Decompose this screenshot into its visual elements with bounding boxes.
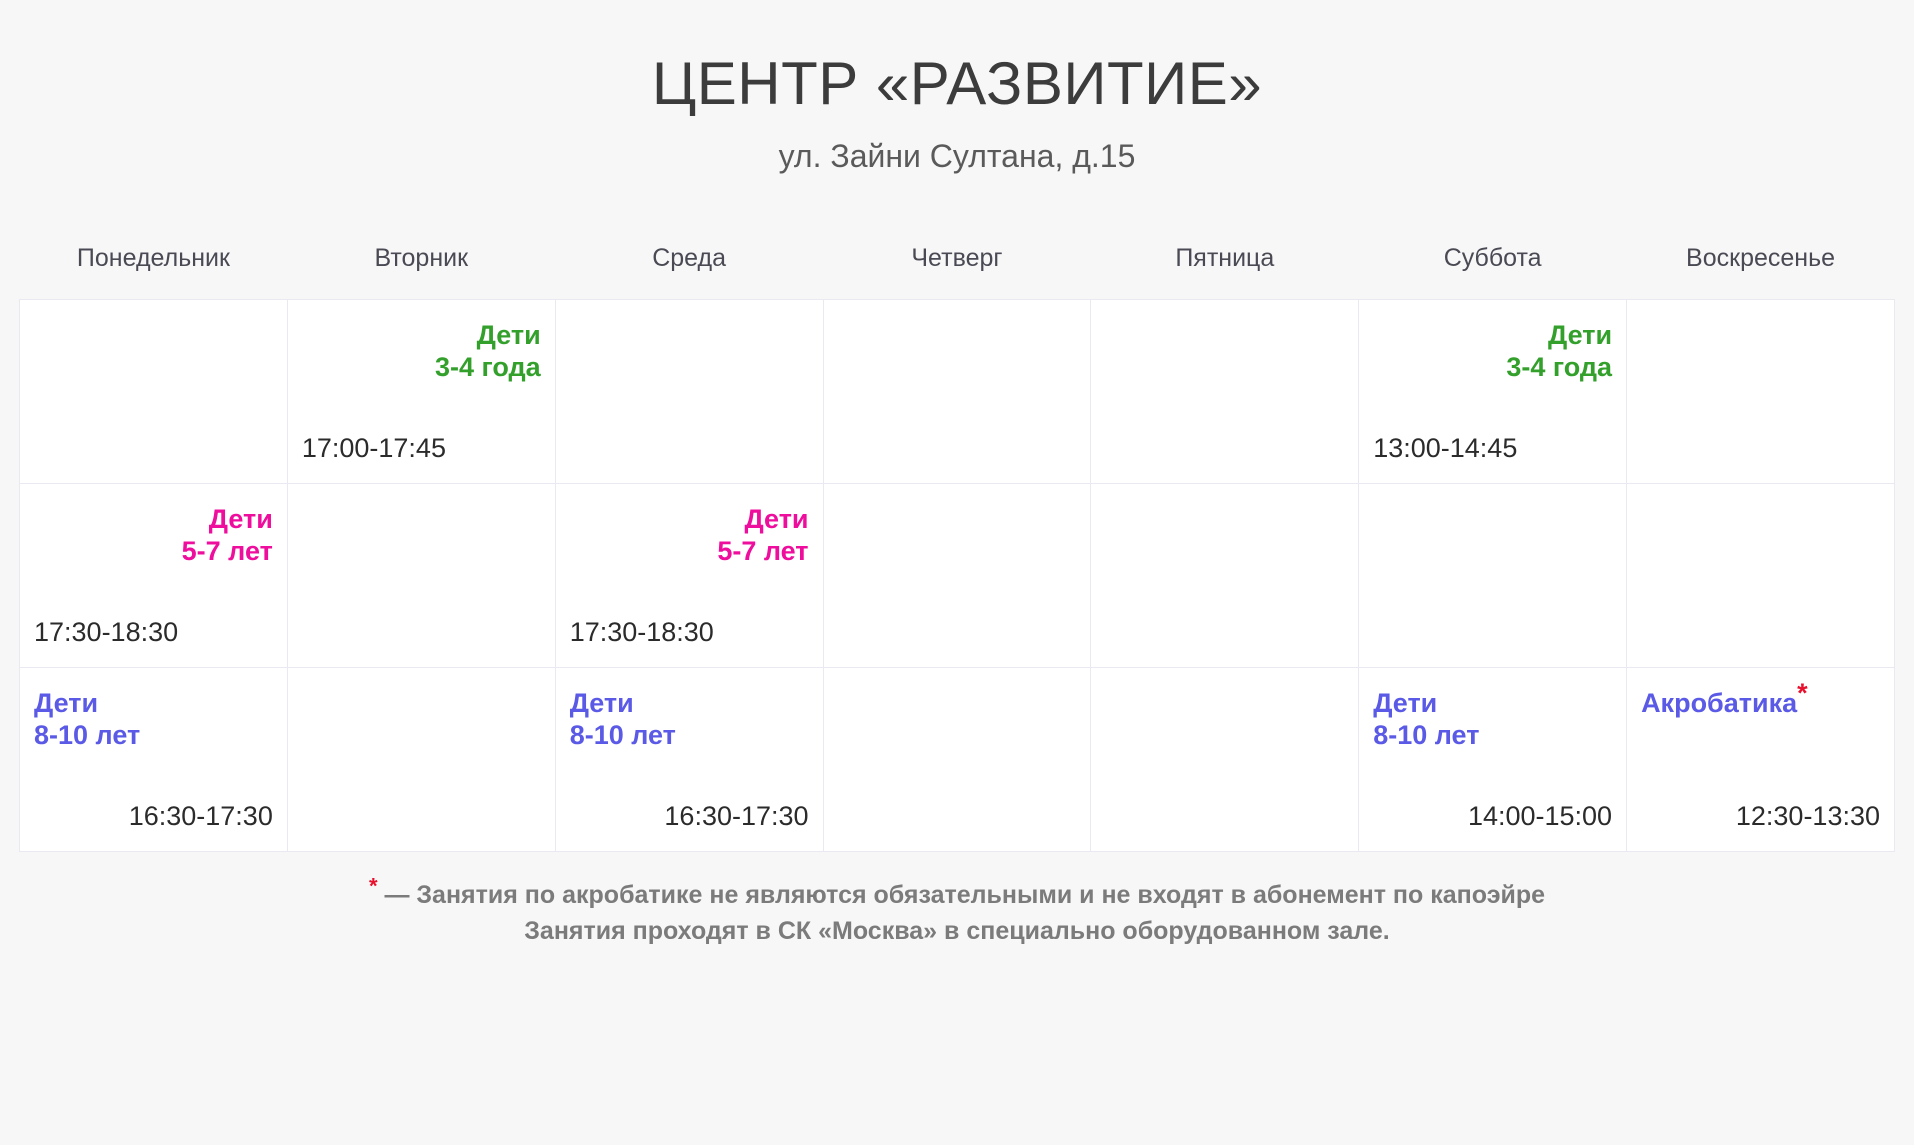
- schedule-cell[interactable]: Дети 3-4 года17:00-17:45: [287, 300, 555, 484]
- class-label-text: Акробатика: [1641, 688, 1797, 718]
- page-header: ЦЕНТР «РАЗВИТИЕ» ул. Зайни Султана, д.15: [0, 0, 1914, 174]
- schedule-cell[interactable]: Дети 5-7 лет17:30-18:30: [20, 484, 288, 668]
- schedule-row: Дети 8-10 лет16:30-17:30Дети 8-10 лет16:…: [20, 668, 1895, 852]
- day-header-5: Пятница: [1091, 244, 1359, 300]
- schedule-cell[interactable]: Дети 5-7 лет17:30-18:30: [555, 484, 823, 668]
- class-label: Дети 5-7 лет: [570, 504, 809, 568]
- class-label: Дети 8-10 лет: [34, 688, 273, 752]
- footnote-line-1-text: — Занятия по акробатике не являются обяз…: [378, 881, 1546, 909]
- schedule-cell-empty: [287, 484, 555, 668]
- class-time: 16:30-17:30: [570, 802, 809, 836]
- class-label-text: Дети 8-10 лет: [34, 688, 140, 750]
- class-label: Дети 8-10 лет: [1373, 688, 1612, 752]
- schedule-table-head: ПонедельникВторникСредаЧетвергПятницаСуб…: [20, 244, 1895, 300]
- class-label-text: Дети 3-4 года: [1506, 320, 1612, 382]
- class-time: 13:00-14:45: [1373, 434, 1612, 468]
- class-time: [1105, 463, 1344, 467]
- class-time: [302, 831, 541, 835]
- schedule-cell-inner: [1091, 300, 1358, 483]
- day-header-label: Суббота: [1444, 244, 1542, 272]
- asterisk-icon: *: [1797, 678, 1808, 708]
- class-time: [1105, 647, 1344, 651]
- footnote-line-2: Занятия проходят в СК «Москва» в специал…: [0, 914, 1914, 950]
- class-label-text: Дети 8-10 лет: [570, 688, 676, 750]
- class-time: 17:30-18:30: [570, 618, 809, 652]
- schedule-cell-inner: Дети 3-4 года17:00-17:45: [288, 300, 555, 483]
- schedule-cell-empty: [555, 300, 823, 484]
- schedule-table-wrap: ПонедельникВторникСредаЧетвергПятницаСуб…: [19, 174, 1895, 852]
- class-time: [34, 463, 273, 467]
- day-header-label: Пятница: [1175, 244, 1274, 272]
- class-time: [1641, 647, 1880, 651]
- schedule-cell-inner: [824, 300, 1091, 483]
- class-time: [838, 463, 1077, 467]
- class-time: 12:30-13:30: [1641, 802, 1880, 836]
- footnote-line-1: * — Занятия по акробатике не являются об…: [0, 878, 1914, 914]
- schedule-cell-inner: [1091, 484, 1358, 667]
- schedule-cell[interactable]: Дети 8-10 лет16:30-17:30: [555, 668, 823, 852]
- schedule-cell-inner: Дети 5-7 лет17:30-18:30: [20, 484, 287, 667]
- class-time: [1373, 647, 1612, 651]
- page-title: ЦЕНТР «РАЗВИТИЕ»: [0, 52, 1914, 115]
- class-label: Дети 3-4 года: [1373, 320, 1612, 384]
- day-header-label: Понедельник: [77, 244, 230, 272]
- schedule-cell-empty: [287, 668, 555, 852]
- schedule-cell-inner: [1359, 484, 1626, 667]
- schedule-cell-inner: Акробатика*12:30-13:30: [1627, 668, 1894, 851]
- schedule-cell-empty: [1091, 484, 1359, 668]
- class-label-text: Дети 5-7 лет: [717, 504, 808, 566]
- class-time: [1105, 831, 1344, 835]
- class-label: Дети 5-7 лет: [34, 504, 273, 568]
- day-header-2: Вторник: [287, 244, 555, 300]
- footnote: * — Занятия по акробатике не являются об…: [0, 878, 1914, 949]
- class-time: [570, 463, 809, 467]
- schedule-cell-empty: [823, 300, 1091, 484]
- class-label: Акробатика*: [1641, 688, 1880, 720]
- class-time: [1641, 463, 1880, 467]
- class-time: 17:30-18:30: [34, 618, 273, 652]
- schedule-cell-inner: Дети 8-10 лет16:30-17:30: [20, 668, 287, 851]
- class-time: [838, 647, 1077, 651]
- class-label: Дети 3-4 года: [302, 320, 541, 384]
- schedule-cell[interactable]: Дети 8-10 лет14:00-15:00: [1359, 668, 1627, 852]
- schedule-cell-inner: Дети 5-7 лет17:30-18:30: [556, 484, 823, 667]
- schedule-cell-inner: Дети 3-4 года13:00-14:45: [1359, 300, 1626, 483]
- schedule-cell-empty: [1627, 484, 1895, 668]
- day-header-7: Воскресенье: [1627, 244, 1895, 300]
- class-time: 16:30-17:30: [34, 802, 273, 836]
- schedule-cell-inner: [824, 668, 1091, 851]
- day-header-row: ПонедельникВторникСредаЧетвергПятницаСуб…: [20, 244, 1895, 300]
- class-time: [302, 647, 541, 651]
- schedule-cell-empty: [1091, 300, 1359, 484]
- schedule-cell-empty: [1091, 668, 1359, 852]
- schedule-cell-inner: [824, 484, 1091, 667]
- day-header-label: Воскресенье: [1686, 244, 1835, 272]
- schedule-cell-empty: [823, 668, 1091, 852]
- class-time: [838, 831, 1077, 835]
- schedule-cell[interactable]: Дети 8-10 лет16:30-17:30: [20, 668, 288, 852]
- class-time: 17:00-17:45: [302, 434, 541, 468]
- page-subtitle-address: ул. Зайни Султана, д.15: [0, 139, 1914, 174]
- schedule-row: Дети 5-7 лет17:30-18:30Дети 5-7 лет17:30…: [20, 484, 1895, 668]
- day-header-6: Суббота: [1359, 244, 1627, 300]
- class-label-text: Дети 8-10 лет: [1373, 688, 1479, 750]
- schedule-cell[interactable]: Дети 3-4 года13:00-14:45: [1359, 300, 1627, 484]
- schedule-cell-inner: [1627, 484, 1894, 667]
- class-label: Дети 8-10 лет: [570, 688, 809, 752]
- schedule-cell-inner: [20, 300, 287, 483]
- schedule-cell-inner: [288, 668, 555, 851]
- schedule-cell-inner: [288, 484, 555, 667]
- schedule-page: ЦЕНТР «РАЗВИТИЕ» ул. Зайни Султана, д.15…: [0, 0, 1914, 1145]
- schedule-cell-inner: [1627, 300, 1894, 483]
- schedule-cell-inner: [1091, 668, 1358, 851]
- day-header-3: Среда: [555, 244, 823, 300]
- schedule-cell-empty: [823, 484, 1091, 668]
- footnote-asterisk-icon: *: [369, 874, 378, 899]
- schedule-table: ПонедельникВторникСредаЧетвергПятницаСуб…: [19, 244, 1895, 852]
- schedule-cell-empty: [1627, 300, 1895, 484]
- day-header-1: Понедельник: [20, 244, 288, 300]
- schedule-cell-inner: Дети 8-10 лет16:30-17:30: [556, 668, 823, 851]
- day-header-4: Четверг: [823, 244, 1091, 300]
- class-time: 14:00-15:00: [1373, 802, 1612, 836]
- class-label-text: Дети 3-4 года: [435, 320, 541, 382]
- schedule-cell-inner: [556, 300, 823, 483]
- class-label-text: Дети 5-7 лет: [182, 504, 273, 566]
- day-header-label: Среда: [652, 244, 726, 272]
- schedule-cell-empty: [1359, 484, 1627, 668]
- schedule-cell-empty: [20, 300, 288, 484]
- schedule-cell[interactable]: Акробатика*12:30-13:30: [1627, 668, 1895, 852]
- schedule-cell-inner: Дети 8-10 лет14:00-15:00: [1359, 668, 1626, 851]
- day-header-label: Вторник: [375, 244, 469, 272]
- day-header-label: Четверг: [911, 244, 1002, 272]
- schedule-table-body: Дети 3-4 года17:00-17:45Дети 3-4 года13:…: [20, 300, 1895, 852]
- schedule-row: Дети 3-4 года17:00-17:45Дети 3-4 года13:…: [20, 300, 1895, 484]
